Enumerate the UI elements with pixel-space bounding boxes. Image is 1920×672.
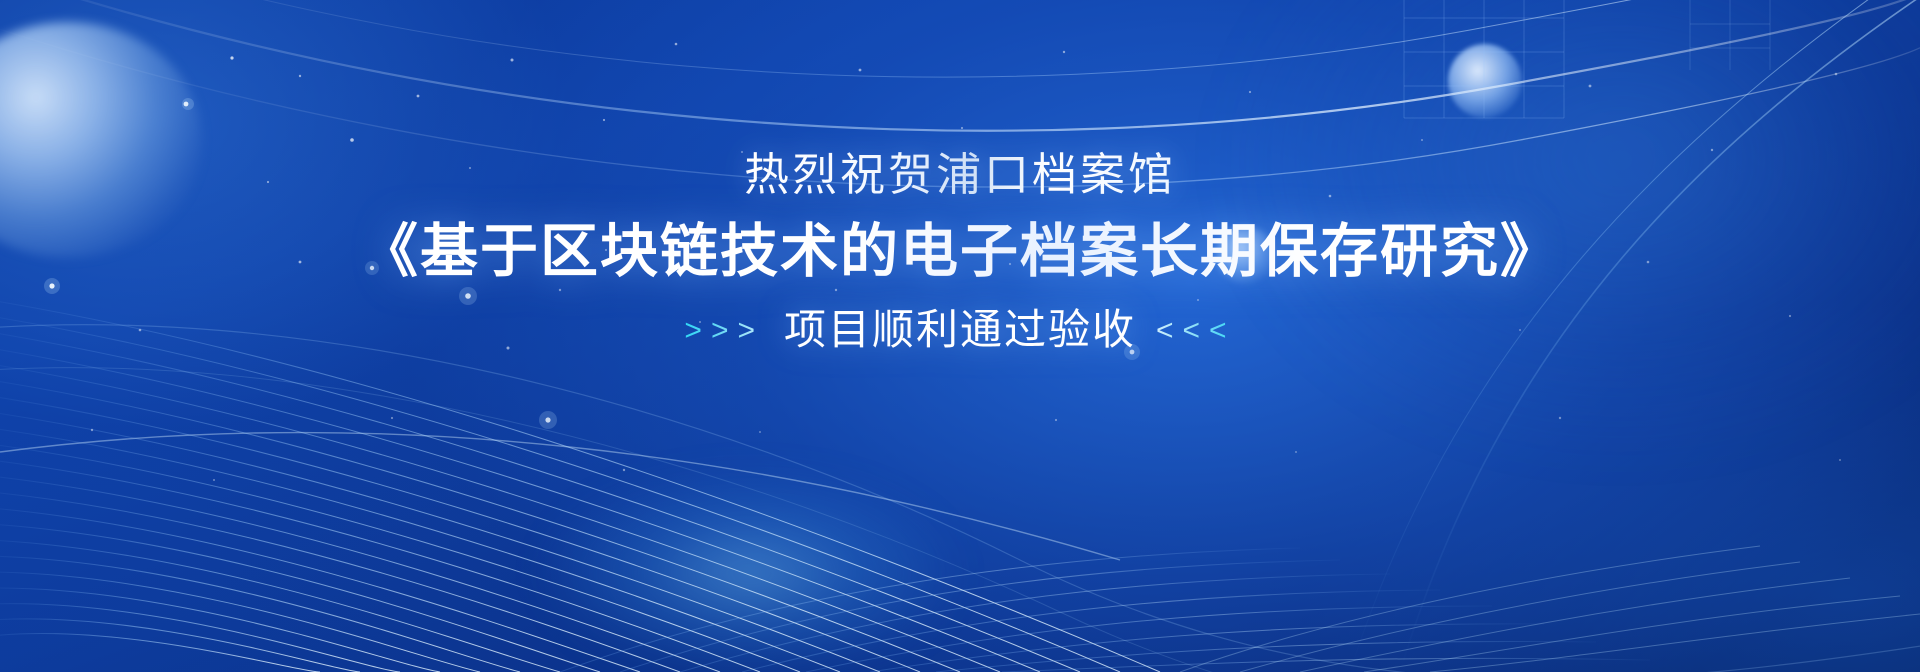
chevrons-right-icon: <<< bbox=[1156, 313, 1236, 349]
banner-text-block: 热烈祝贺浦口档案馆 《基于区块链技术的电子档案长期保存研究》 >>> 项目顺利通… bbox=[0, 0, 1920, 672]
chevrons-left-icon: >>> bbox=[684, 313, 764, 349]
banner-line-3: >>> 项目顺利通过验收 <<< bbox=[684, 305, 1235, 355]
celebration-banner: 热烈祝贺浦口档案馆 《基于区块链技术的电子档案长期保存研究》 >>> 项目顺利通… bbox=[0, 0, 1920, 672]
banner-line-3-text: 项目顺利通过验收 bbox=[784, 305, 1136, 355]
banner-title: 《基于区块链技术的电子档案长期保存研究》 bbox=[360, 218, 1560, 285]
banner-line-1: 热烈祝贺浦口档案馆 bbox=[744, 148, 1176, 201]
